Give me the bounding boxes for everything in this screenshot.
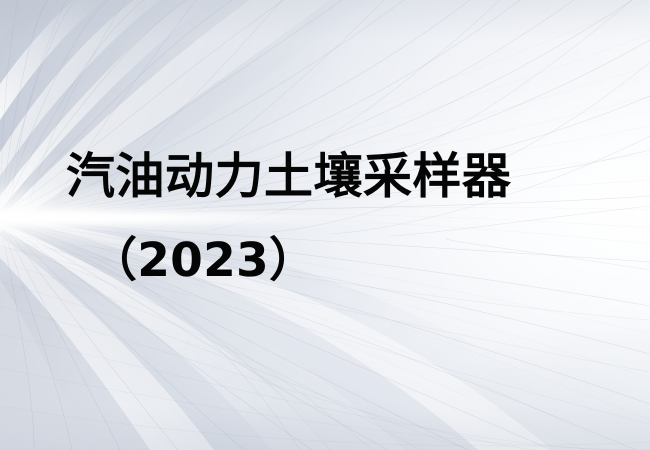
title-line-primary: 汽油动力土壤采样器 (66, 148, 511, 206)
title-banner: 汽油动力土壤采样器 （2023） (0, 0, 650, 450)
title-block: 汽油动力土壤采样器 （2023） (0, 0, 650, 450)
title-line-year: （2023） (90, 232, 316, 290)
